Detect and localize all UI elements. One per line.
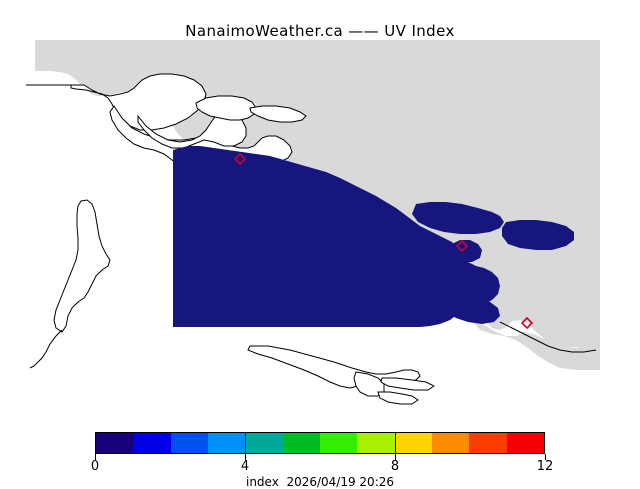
map-canvas <box>0 40 640 410</box>
colorbar-tick-label-8: 8 <box>391 459 399 474</box>
colorbar-band-7 <box>320 433 357 453</box>
colorbar-band-3 <box>171 433 208 453</box>
screenshot-root: NanaimoWeather.ca —— UV Index <box>0 0 640 480</box>
uv-index-map[interactable] <box>0 40 640 410</box>
west-island-layer <box>30 200 110 368</box>
colorbar-tick-label-0: 0 <box>91 459 99 474</box>
colorbar-block: 04812 index 2026/04/19 20:26 <box>0 425 640 480</box>
narrow-island-spit-east <box>381 378 434 390</box>
colorbar-band-9 <box>395 433 432 453</box>
colorbar-band-12 <box>507 433 544 453</box>
colorbar-band-4 <box>208 433 245 453</box>
colorbar-tick-labels: 04812 <box>0 459 640 475</box>
west-island-south-spur <box>30 330 62 368</box>
colorbar-band-8 <box>357 433 394 453</box>
colorbar-band-5 <box>245 433 282 453</box>
west-narrow-island-outline <box>54 200 110 332</box>
colorbar-tick-label-12: 12 <box>537 459 554 474</box>
uv-index-colorbar[interactable] <box>95 432 545 454</box>
southern-island-layer <box>248 346 434 404</box>
colorbar-band-6 <box>283 433 320 453</box>
colorbar-divider-4 <box>245 432 246 454</box>
narrow-island-spit-southeast <box>378 392 418 404</box>
page-title: NanaimoWeather.ca —— UV Index <box>0 22 640 40</box>
colorbar-band-2 <box>133 433 170 453</box>
colorbar-band-10 <box>432 433 469 453</box>
colorbar-band-1 <box>96 433 133 453</box>
colorbar-tick-label-4: 4 <box>241 459 249 474</box>
colorbar-caption: index 2026/04/19 20:26 <box>0 475 640 489</box>
colorbar-band-11 <box>469 433 506 453</box>
colorbar-divider-8 <box>395 432 396 454</box>
